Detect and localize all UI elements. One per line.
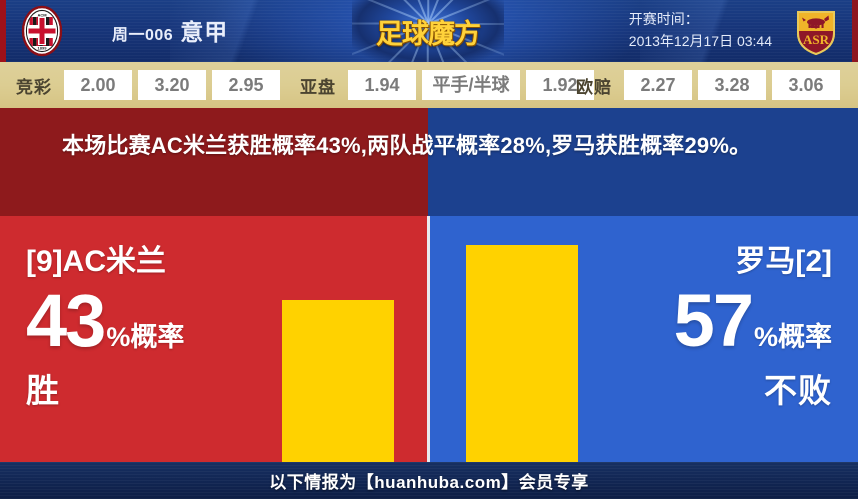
- away-team-name: 罗马[2]: [674, 236, 832, 280]
- match-probability-infographic: ACM 1899 周一006意甲 足球魔方 开赛时间： 2013年12月17日: [0, 0, 858, 499]
- odds-cell-away[interactable]: 3.06: [772, 70, 840, 100]
- away-probability-suffix: %概率: [754, 315, 832, 354]
- footer-bar: 以下情报为【huanhuba.com】会员专享: [0, 462, 858, 499]
- summary-banner: 本场比赛AC米兰获胜概率43%,两队战平概率28%,罗马获胜概率29%。: [0, 108, 858, 216]
- odds-cell-away[interactable]: 2.95: [212, 70, 280, 100]
- as-roma-crest-icon: ASR: [790, 5, 842, 57]
- brand-logo: 足球魔方: [352, 0, 504, 62]
- odds-cell-home[interactable]: 2.00: [64, 70, 132, 100]
- odds-strip: 竞彩 2.00 3.20 2.95 亚盘 1.94 平手/半球 1.92 欧赔 …: [0, 62, 858, 108]
- home-team-block: [9]AC米兰 43 %概率 胜: [26, 216, 184, 412]
- header-bar: ACM 1899 周一006意甲 足球魔方 开赛时间： 2013年12月17日: [0, 0, 858, 62]
- match-title: 周一006意甲: [112, 13, 228, 47]
- svg-text:ACM: ACM: [37, 13, 47, 18]
- away-probability-bar: [466, 245, 578, 462]
- probability-panel: [9]AC米兰 43 %概率 胜 罗马[2] 57 %概率 不败: [0, 216, 858, 462]
- panel-divider: [427, 216, 430, 462]
- away-probability-row: 57 %概率: [674, 284, 832, 358]
- odds-cell-draw[interactable]: 3.28: [698, 70, 766, 100]
- home-team-name: [9]AC米兰: [26, 236, 184, 280]
- home-probability-value: 43: [26, 284, 104, 358]
- odds-group-label: 欧赔: [576, 73, 612, 98]
- footer-text: 以下情报为【huanhuba.com】会员专享: [269, 468, 588, 493]
- summary-text: 本场比赛AC米兰获胜概率43%,两队战平概率28%,罗马获胜概率29%。: [62, 130, 802, 162]
- home-probability-row: 43 %概率: [26, 284, 184, 358]
- home-probability-suffix: %概率: [106, 315, 184, 354]
- odds-group-label: 竞彩: [16, 73, 52, 98]
- kickoff-time: 开赛时间： 2013年12月17日 03:44: [629, 8, 772, 52]
- kickoff-label: 开赛时间：: [629, 8, 772, 30]
- brand-name: 足球魔方: [352, 0, 504, 62]
- odds-group-jingcai: 竞彩 2.00 3.20 2.95: [16, 70, 280, 100]
- odds-cell-draw[interactable]: 3.20: [138, 70, 206, 100]
- summary-right-background: [428, 108, 858, 216]
- ac-milan-crest-icon: ACM 1899: [16, 5, 68, 57]
- header-right-edge-accent: [852, 0, 858, 62]
- odds-group-european: 欧赔 2.27 3.28 3.06: [576, 70, 840, 100]
- match-league: 意甲: [180, 19, 228, 45]
- home-probability-bar: [282, 300, 394, 462]
- svg-text:ASR: ASR: [803, 32, 830, 47]
- svg-text:1899: 1899: [38, 46, 48, 51]
- away-outcome-label: 不败: [674, 364, 832, 412]
- odds-cell-home[interactable]: 1.94: [348, 70, 416, 100]
- odds-group-asian-handicap: 亚盘 1.94 平手/半球 1.92: [300, 70, 594, 100]
- away-probability-value: 57: [674, 284, 752, 358]
- summary-left-background: [0, 108, 428, 216]
- odds-cell-handicap[interactable]: 平手/半球: [422, 70, 520, 100]
- header-left-edge-accent: [0, 0, 6, 62]
- home-outcome-label: 胜: [26, 364, 184, 412]
- away-team-block: 罗马[2] 57 %概率 不败: [674, 216, 832, 412]
- match-round: 周一006: [112, 27, 173, 44]
- odds-cell-home[interactable]: 2.27: [624, 70, 692, 100]
- kickoff-value: 2013年12月17日 03:44: [629, 30, 772, 52]
- odds-group-label: 亚盘: [300, 73, 336, 98]
